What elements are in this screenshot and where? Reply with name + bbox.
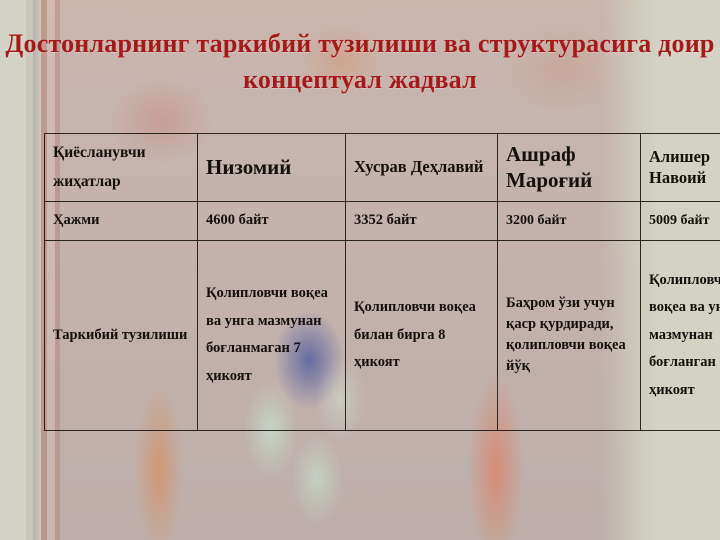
- cell-tuzilishi-ashraf: Баҳром ўзи учун қаср қурдиради, қолиплов…: [498, 240, 641, 430]
- page-title: Достонларнинг таркибий тузилиши ва струк…: [0, 26, 720, 98]
- cell-hajmi-nizomiy: 4600 байт: [198, 202, 346, 241]
- cell-hajmi-navoiy: 5009 байт: [641, 202, 720, 241]
- header-cell-aspects: Қиёсланувчи жиҳатлар: [45, 134, 198, 202]
- header-cell-alisher-navoiy: Алишер Навоий: [641, 134, 720, 202]
- cell-tuzilishi-nizomiy: Қолипловчи воқеа ва унга мазмунан боғлан…: [198, 240, 346, 430]
- cell-tuzilishi-xusrav: Қолипловчи воқеа билан бирга 8 ҳикоят: [346, 240, 498, 430]
- row-label-tarkibiy-tuzilishi: Таркибий тузилиши: [45, 240, 198, 430]
- cell-hajmi-xusrav: 3352 байт: [346, 202, 498, 241]
- table-row: Ҳажми 4600 байт 3352 байт 3200 байт 5009…: [45, 202, 720, 241]
- header-cell-xusrav-dehlaviy: Хусрав Деҳлавий: [346, 134, 498, 202]
- cell-hajmi-ashraf: 3200 байт: [498, 202, 641, 241]
- header-cell-nizomiy: Низомий: [198, 134, 346, 202]
- table-row: Таркибий тузилиши Қолипловчи воқеа ва ун…: [45, 240, 720, 430]
- row-label-hajmi: Ҳажми: [45, 202, 198, 241]
- concept-table: Қиёсланувчи жиҳатлар Низомий Хусрав Деҳл…: [44, 133, 720, 431]
- cell-tuzilishi-navoiy: Қолипловчи воқеа ва унга мазмунан боғлан…: [641, 240, 720, 430]
- table-header-row: Қиёсланувчи жиҳатлар Низомий Хусрав Деҳл…: [45, 134, 720, 202]
- header-cell-ashraf-marogiy: Ашраф Мароғий: [498, 134, 641, 202]
